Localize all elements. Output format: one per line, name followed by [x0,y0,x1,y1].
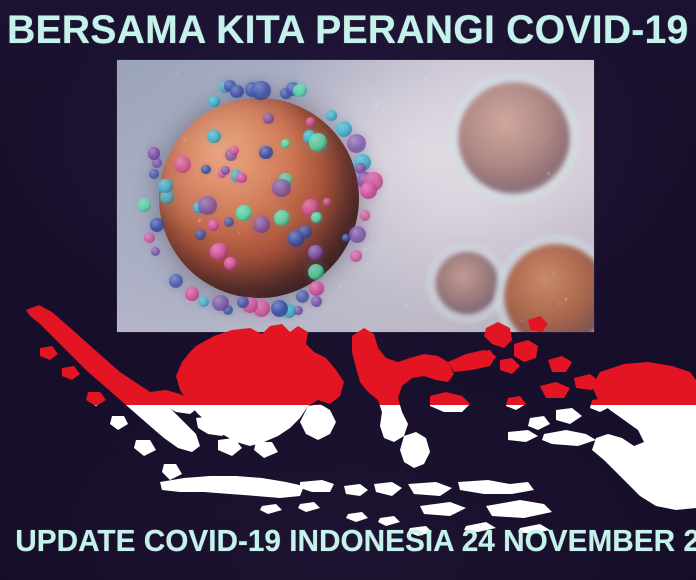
spike-protein [151,247,160,256]
spike-protein [207,130,221,144]
spike-protein [326,110,337,121]
spike-protein [293,84,306,97]
dust-particle [452,137,453,138]
dust-particle [268,177,270,179]
dust-particle [490,135,492,137]
spike-protein [306,117,316,127]
spike-protein [174,156,191,173]
virion-main [135,74,383,322]
spike-protein [272,179,291,198]
spike-protein [224,217,234,227]
spike-protein [208,219,219,230]
covid-poster: BERSAMA KITA PERANGI COVID-19 [0,0,696,580]
spike-protein [253,216,270,233]
spike-protein [236,173,246,183]
indonesia-map [0,300,696,540]
spike-protein [201,165,211,175]
poster-footer-text: UPDATE COVID-19 INDONESIA 24 NOVEMBER 20… [15,524,696,558]
spike-protein [349,226,366,243]
spike-protein [185,287,199,301]
spike-protein [360,210,371,221]
map-icon [0,300,696,540]
spike-protein [259,146,272,159]
spike-protein [230,85,244,99]
poster-footer: UPDATE COVID-19 INDONESIA 24 NOVEMBER 20… [0,524,696,558]
spike-protein [360,182,377,199]
poster-title: BERSAMA KITA PERANGI COVID-19 [0,8,696,52]
spike-protein [150,218,164,232]
poster-title-text: BERSAMA KITA PERANGI COVID-19 [7,8,689,52]
spike-protein [336,121,352,137]
spike-protein [148,147,160,159]
dust-particle [410,142,412,144]
spike-protein [208,96,220,108]
spike-protein [138,198,151,211]
dust-particle [198,219,201,222]
spike-protein [149,169,159,179]
virion-background-1 [458,82,570,194]
spike-protein [288,230,305,247]
dust-particle [238,232,240,234]
spike-protein [350,250,362,262]
spike-protein [323,198,330,205]
virus-photo [117,60,594,332]
spike-protein [347,134,366,153]
spike-protein [251,81,270,100]
spike-protein [198,196,217,215]
spike-protein [169,274,183,288]
spike-protein [311,212,322,223]
spike-protein [309,281,324,296]
spike-protein [342,234,350,242]
dust-particle [475,75,477,77]
spike-protein [144,233,155,244]
spike-protein [308,264,324,280]
map-red-half [26,305,696,536]
spike-protein [210,243,227,260]
dust-particle [183,138,186,141]
spike-protein [263,113,274,124]
spike-protein [308,245,322,259]
